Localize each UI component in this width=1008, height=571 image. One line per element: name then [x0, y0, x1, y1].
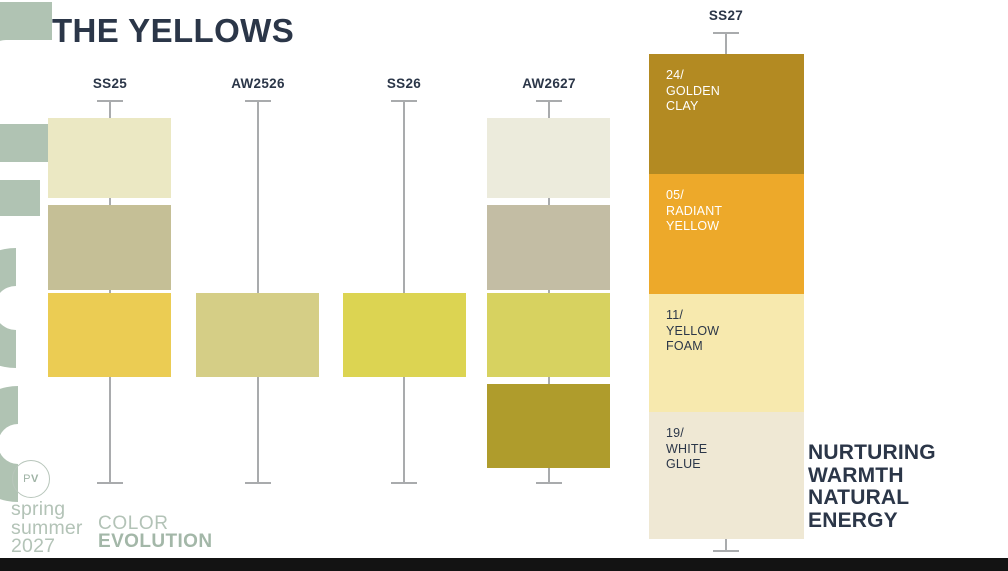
swatch-label: 05/ RADIANT YELLOW — [666, 188, 722, 235]
stem-cap-bottom — [97, 482, 123, 484]
color-swatch[interactable] — [48, 205, 171, 290]
timeline-stem — [257, 100, 259, 482]
tagline: NURTURING WARMTH NATURAL ENERGY — [808, 442, 936, 532]
color-swatch[interactable]: 05/ RADIANT YELLOW — [649, 174, 804, 294]
swatch-label: 24/ GOLDEN CLAY — [666, 68, 720, 115]
pv-logo-badge: PV — [12, 460, 50, 498]
swatch-label: 19/ WHITE GLUE — [666, 426, 707, 473]
season-label-ss25[interactable]: SS25 — [93, 76, 127, 91]
timeline-stem — [403, 100, 405, 482]
season-label-aw2627[interactable]: AW2627 — [522, 76, 576, 91]
color-swatch[interactable] — [487, 205, 610, 290]
stem-cap-bottom — [713, 550, 739, 552]
pv-logo-v: V — [31, 473, 39, 485]
color-swatch[interactable] — [487, 118, 610, 198]
color-swatch[interactable]: 11/ YELLOW FOAM — [649, 294, 804, 412]
season-label-ss27[interactable]: SS27 — [709, 8, 743, 23]
color-evolution-line2: EVOLUTION — [98, 533, 212, 551]
color-swatch[interactable] — [48, 118, 171, 198]
season-year-label: spring summer 2027 — [11, 500, 83, 556]
color-evolution-logo: COLOR EVOLUTION — [98, 515, 212, 551]
slide-canvas: THE YELLOWS SS25AW2526SS26AW2627SS2724/ … — [0, 0, 1008, 571]
page-title: THE YELLOWS — [52, 12, 294, 50]
bottom-bar — [0, 558, 1008, 571]
season-label-aw2526[interactable]: AW2526 — [231, 76, 285, 91]
color-swatch[interactable] — [487, 384, 610, 468]
color-swatch[interactable]: 19/ WHITE GLUE — [649, 412, 804, 539]
stem-cap-bottom — [245, 482, 271, 484]
color-swatch[interactable] — [487, 293, 610, 377]
color-swatch[interactable] — [343, 293, 466, 377]
pv-logo-p: P — [23, 473, 31, 485]
season-label-ss26[interactable]: SS26 — [387, 76, 421, 91]
stem-cap-bottom — [391, 482, 417, 484]
swatch-label: 11/ YELLOW FOAM — [666, 308, 719, 355]
stem-cap-bottom — [536, 482, 562, 484]
color-swatch[interactable] — [48, 293, 171, 377]
color-swatch[interactable] — [196, 293, 319, 377]
color-swatch[interactable]: 24/ GOLDEN CLAY — [649, 54, 804, 174]
